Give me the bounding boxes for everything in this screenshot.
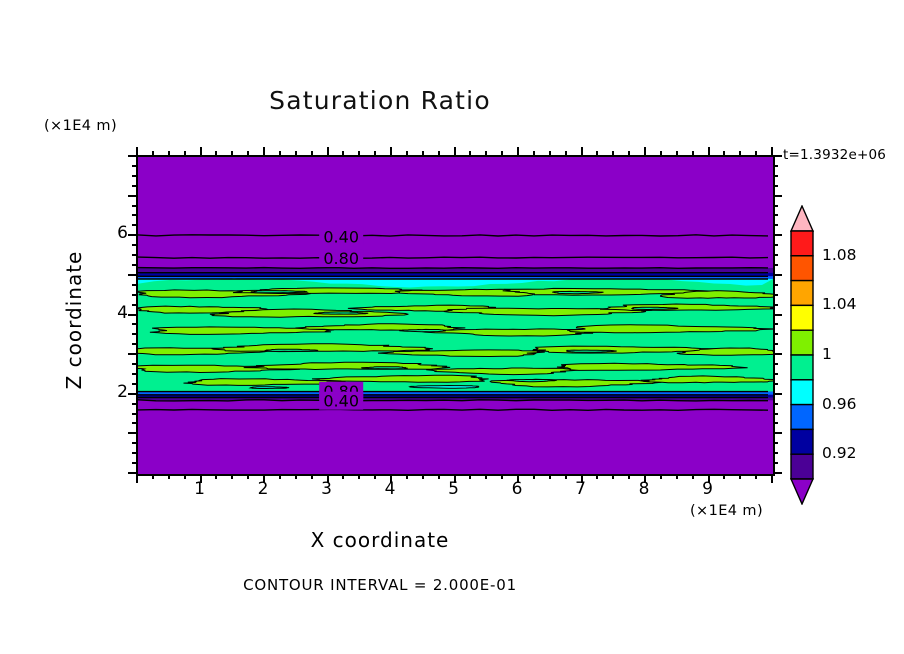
page-title: Saturation Ratio bbox=[0, 86, 760, 115]
x-tick-top bbox=[152, 151, 154, 156]
z-tick bbox=[132, 165, 137, 167]
z-tick-label: 6 bbox=[104, 223, 128, 243]
x-tick-top bbox=[454, 147, 456, 156]
z-tick-right bbox=[773, 274, 782, 276]
z-tick bbox=[128, 353, 137, 355]
z-tick bbox=[132, 452, 137, 454]
x-tick-label: 5 bbox=[439, 479, 469, 499]
z-tick bbox=[132, 462, 137, 464]
z-tick-right bbox=[773, 244, 778, 246]
x-axis-title: X coordinate bbox=[0, 528, 760, 552]
z-tick-right bbox=[773, 234, 782, 236]
colorbar-tick-label: 1.08 bbox=[822, 246, 857, 264]
x-tick bbox=[215, 474, 217, 479]
colorbar-top-arrow bbox=[791, 206, 813, 231]
x-tick bbox=[152, 474, 154, 479]
contour-line-label: 0.40 bbox=[319, 392, 363, 411]
z-tick-right bbox=[773, 353, 782, 355]
colorbar-tick-label: 0.96 bbox=[822, 395, 857, 413]
z-tick bbox=[132, 323, 137, 325]
x-tick-top bbox=[469, 151, 471, 156]
x-tick bbox=[612, 474, 614, 479]
z-tick bbox=[128, 195, 137, 197]
x-tick-label: 6 bbox=[502, 479, 532, 499]
z-tick bbox=[132, 284, 137, 286]
z-tick-right bbox=[773, 472, 782, 474]
z-tick bbox=[132, 254, 137, 256]
x-tick-top bbox=[215, 151, 217, 156]
contour-plot-canvas: 0.400.800.800.40 bbox=[138, 157, 773, 474]
x-tick-top bbox=[406, 151, 408, 156]
x-tick bbox=[136, 474, 138, 483]
x-tick-top bbox=[708, 147, 710, 156]
x-tick-top bbox=[565, 151, 567, 156]
colorbar-swatch bbox=[791, 429, 813, 454]
z-tick-right bbox=[773, 432, 782, 434]
z-tick-right bbox=[773, 363, 778, 365]
x-tick bbox=[739, 474, 741, 479]
z-tick-right bbox=[773, 254, 778, 256]
z-tick bbox=[128, 314, 137, 316]
x-tick-top bbox=[247, 151, 249, 156]
x-tick bbox=[231, 474, 233, 479]
colorbar-tick-label: 0.92 bbox=[822, 444, 857, 462]
z-tick bbox=[132, 214, 137, 216]
colorbar-swatch bbox=[791, 380, 813, 405]
z-tick bbox=[132, 185, 137, 187]
contour-line-label: 0.40 bbox=[319, 227, 363, 246]
z-tick-label: 4 bbox=[104, 303, 128, 323]
z-tick bbox=[132, 403, 137, 405]
x-tick bbox=[676, 474, 678, 479]
z-tick bbox=[132, 224, 137, 226]
x-tick bbox=[342, 474, 344, 479]
z-tick-right bbox=[773, 284, 778, 286]
x-tick-top bbox=[644, 147, 646, 156]
z-tick bbox=[132, 175, 137, 177]
colorbar-swatch bbox=[791, 405, 813, 430]
z-tick-right bbox=[773, 462, 778, 464]
x-tick-top bbox=[438, 151, 440, 156]
x-tick bbox=[295, 474, 297, 479]
x-tick-top bbox=[263, 147, 265, 156]
z-tick-right bbox=[773, 422, 778, 424]
x-tick bbox=[469, 474, 471, 479]
z-tick-right bbox=[773, 304, 778, 306]
colorbar-swatches bbox=[786, 205, 820, 505]
x-tick-top bbox=[358, 151, 360, 156]
x-tick-top bbox=[168, 151, 170, 156]
x-tick bbox=[596, 474, 598, 479]
z-tick bbox=[132, 343, 137, 345]
x-tick-top bbox=[676, 151, 678, 156]
x-tick bbox=[485, 474, 487, 479]
z-tick-right bbox=[773, 294, 778, 296]
z-tick-right bbox=[773, 155, 782, 157]
x-tick-top bbox=[184, 151, 186, 156]
x-tick-label: 4 bbox=[375, 479, 405, 499]
y-axis-title: Z coordinate bbox=[62, 0, 86, 200]
x-tick-top bbox=[327, 147, 329, 156]
x-tick-top bbox=[485, 151, 487, 156]
colorbar-swatch bbox=[791, 256, 813, 281]
colorbar-swatch bbox=[791, 231, 813, 256]
svg-text:0.80: 0.80 bbox=[323, 249, 359, 268]
x-tick bbox=[406, 474, 408, 479]
x-tick bbox=[660, 474, 662, 479]
z-tick bbox=[132, 264, 137, 266]
x-tick-top bbox=[295, 151, 297, 156]
x-tick-top bbox=[374, 151, 376, 156]
x-tick-label: 2 bbox=[248, 479, 278, 499]
z-tick-right bbox=[773, 175, 778, 177]
z-tick-right bbox=[773, 333, 778, 335]
z-tick bbox=[132, 294, 137, 296]
z-tick-right bbox=[773, 214, 778, 216]
contour-interval-note: CONTOUR INTERVAL = 2.000E-01 bbox=[0, 576, 760, 594]
z-tick bbox=[128, 432, 137, 434]
x-tick-top bbox=[755, 151, 757, 156]
colorbar-swatch bbox=[791, 305, 813, 330]
z-tick bbox=[132, 244, 137, 246]
x-tick-top bbox=[422, 151, 424, 156]
z-tick bbox=[132, 205, 137, 207]
x-tick-top bbox=[501, 151, 503, 156]
x-tick-top bbox=[581, 147, 583, 156]
x-tick-label: 3 bbox=[312, 479, 342, 499]
z-tick-right bbox=[773, 165, 778, 167]
x-tick-top bbox=[596, 151, 598, 156]
x-tick-top bbox=[200, 147, 202, 156]
z-tick-right bbox=[773, 185, 778, 187]
x-tick bbox=[549, 474, 551, 479]
x-tick-top bbox=[739, 151, 741, 156]
z-tick-right bbox=[773, 195, 782, 197]
z-tick-right bbox=[773, 323, 778, 325]
z-tick-label: 2 bbox=[104, 382, 128, 402]
x-tick-top bbox=[279, 151, 281, 156]
x-tick bbox=[771, 474, 773, 483]
x-tick-top bbox=[723, 151, 725, 156]
x-tick-top bbox=[342, 151, 344, 156]
x-tick bbox=[168, 474, 170, 479]
x-tick-top bbox=[612, 151, 614, 156]
colorbar-swatch bbox=[791, 454, 813, 479]
x-tick bbox=[533, 474, 535, 479]
time-annotation: t=1.3932e+06 bbox=[783, 147, 886, 163]
z-tick bbox=[128, 274, 137, 276]
x-tick bbox=[358, 474, 360, 479]
z-tick-right bbox=[773, 264, 778, 266]
z-tick bbox=[132, 363, 137, 365]
colorbar-swatch bbox=[791, 355, 813, 380]
z-tick bbox=[132, 373, 137, 375]
colorbar-bottom-arrow bbox=[791, 479, 813, 504]
contour-line-label: 0.80 bbox=[319, 249, 363, 268]
x-tick bbox=[723, 474, 725, 479]
svg-text:0.40: 0.40 bbox=[323, 392, 359, 411]
z-tick bbox=[132, 333, 137, 335]
z-tick bbox=[128, 393, 137, 395]
x-tick-label: 8 bbox=[629, 479, 659, 499]
z-tick-right bbox=[773, 413, 778, 415]
z-tick-right bbox=[773, 314, 782, 316]
z-tick bbox=[132, 383, 137, 385]
x-tick-top bbox=[311, 151, 313, 156]
x-tick-top bbox=[517, 147, 519, 156]
z-tick-right bbox=[773, 442, 778, 444]
y-axis-title-text: Z coordinate bbox=[62, 200, 86, 440]
x-tick-label: 1 bbox=[185, 479, 215, 499]
x-tick-top bbox=[660, 151, 662, 156]
x-tick bbox=[755, 474, 757, 479]
colorbar: 1.081.0410.960.92 bbox=[786, 205, 820, 505]
z-tick bbox=[132, 304, 137, 306]
z-tick-right bbox=[773, 393, 782, 395]
x-tick-top bbox=[628, 151, 630, 156]
x-tick-top bbox=[390, 147, 392, 156]
colorbar-tick-label: 1 bbox=[822, 345, 832, 363]
x-tick bbox=[422, 474, 424, 479]
z-tick bbox=[128, 472, 137, 474]
z-tick bbox=[128, 155, 137, 157]
x-tick-top bbox=[231, 151, 233, 156]
z-tick-right bbox=[773, 383, 778, 385]
z-tick-right bbox=[773, 373, 778, 375]
x-tick-top bbox=[692, 151, 694, 156]
z-tick bbox=[132, 442, 137, 444]
x-tick-label: 9 bbox=[693, 479, 723, 499]
z-tick bbox=[128, 234, 137, 236]
z-tick-right bbox=[773, 452, 778, 454]
x-tick-top bbox=[549, 151, 551, 156]
x-tick bbox=[279, 474, 281, 479]
z-tick bbox=[132, 413, 137, 415]
z-tick bbox=[132, 422, 137, 424]
z-tick-right bbox=[773, 343, 778, 345]
colorbar-tick-label: 1.04 bbox=[822, 295, 857, 313]
x-tick-top bbox=[533, 151, 535, 156]
z-tick-right bbox=[773, 224, 778, 226]
colorbar-swatch bbox=[791, 330, 813, 355]
contour-plot-area: 0.400.800.800.40 bbox=[136, 155, 775, 476]
x-tick-label: 7 bbox=[566, 479, 596, 499]
svg-text:0.40: 0.40 bbox=[323, 227, 359, 246]
z-tick-right bbox=[773, 403, 778, 405]
z-tick-right bbox=[773, 205, 778, 207]
colorbar-swatch bbox=[791, 281, 813, 306]
x-axis-unit-label: (×1E4 m) bbox=[690, 503, 763, 519]
